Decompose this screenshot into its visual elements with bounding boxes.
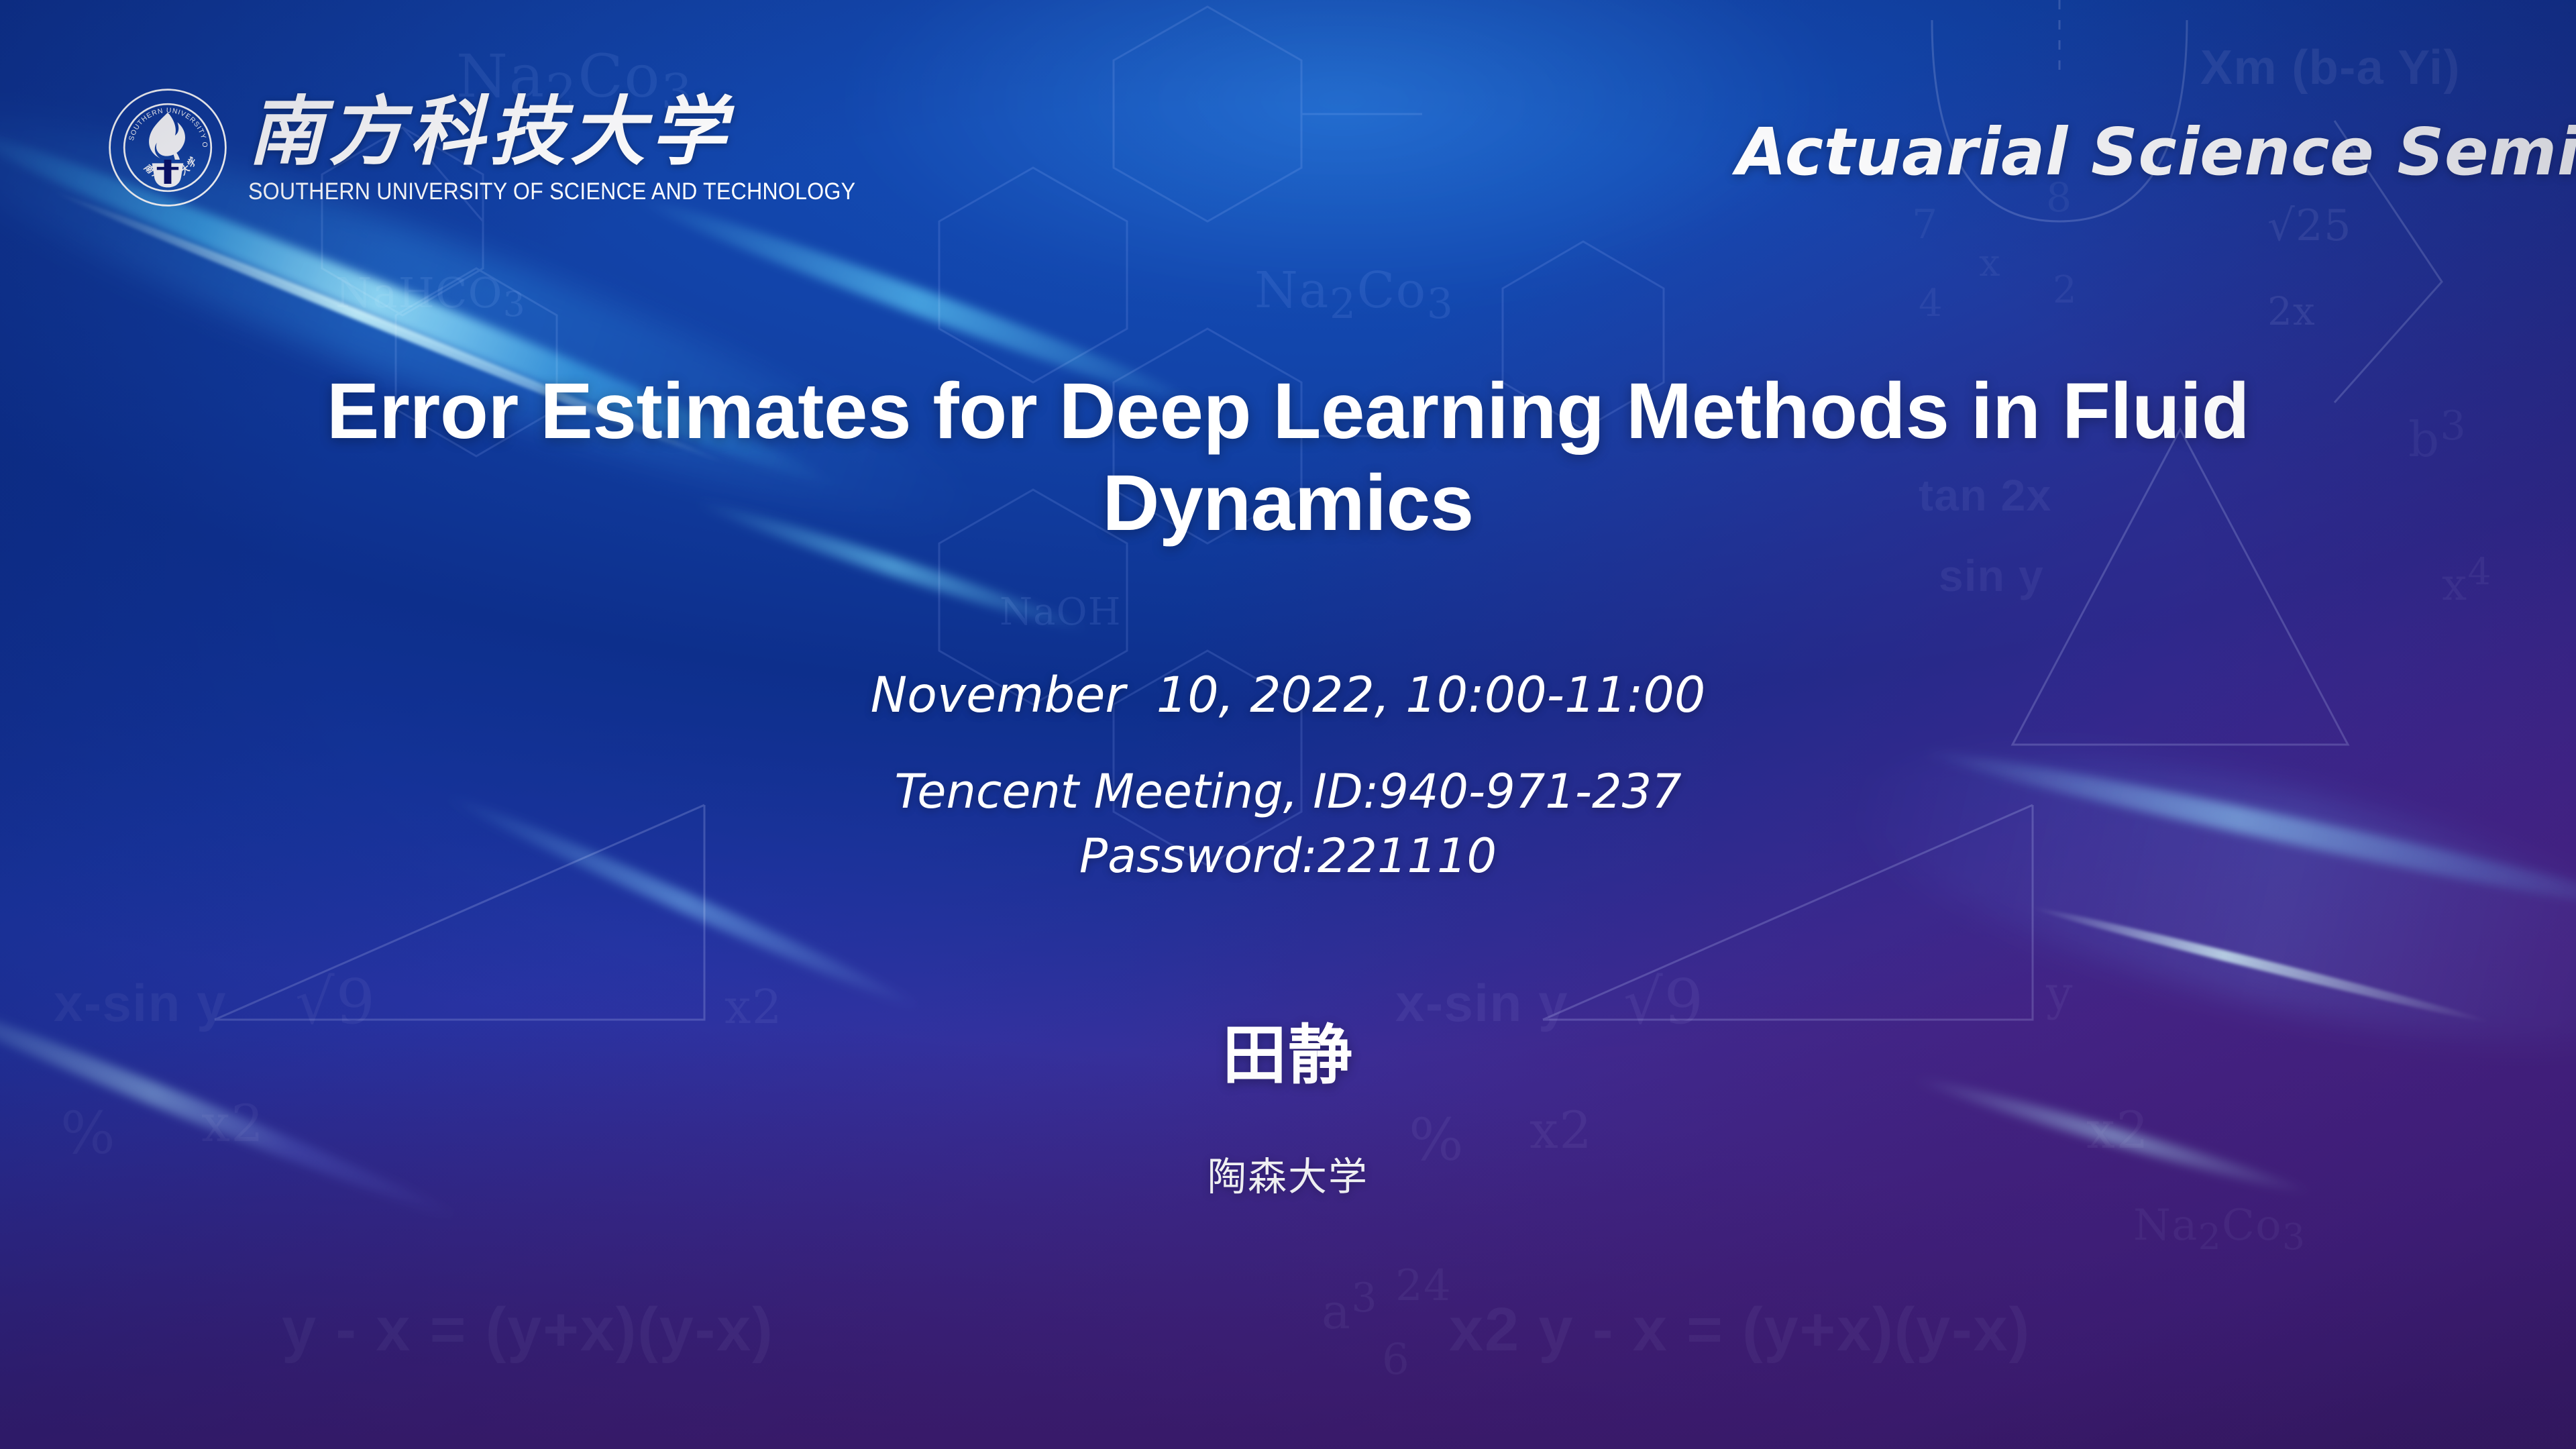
background-vignette [0,0,2576,1449]
seminar-poster: Na2Co3 NaHCO3 Na2Co3 NaOH Xm (b-a Yi) √2… [0,0,2576,1449]
